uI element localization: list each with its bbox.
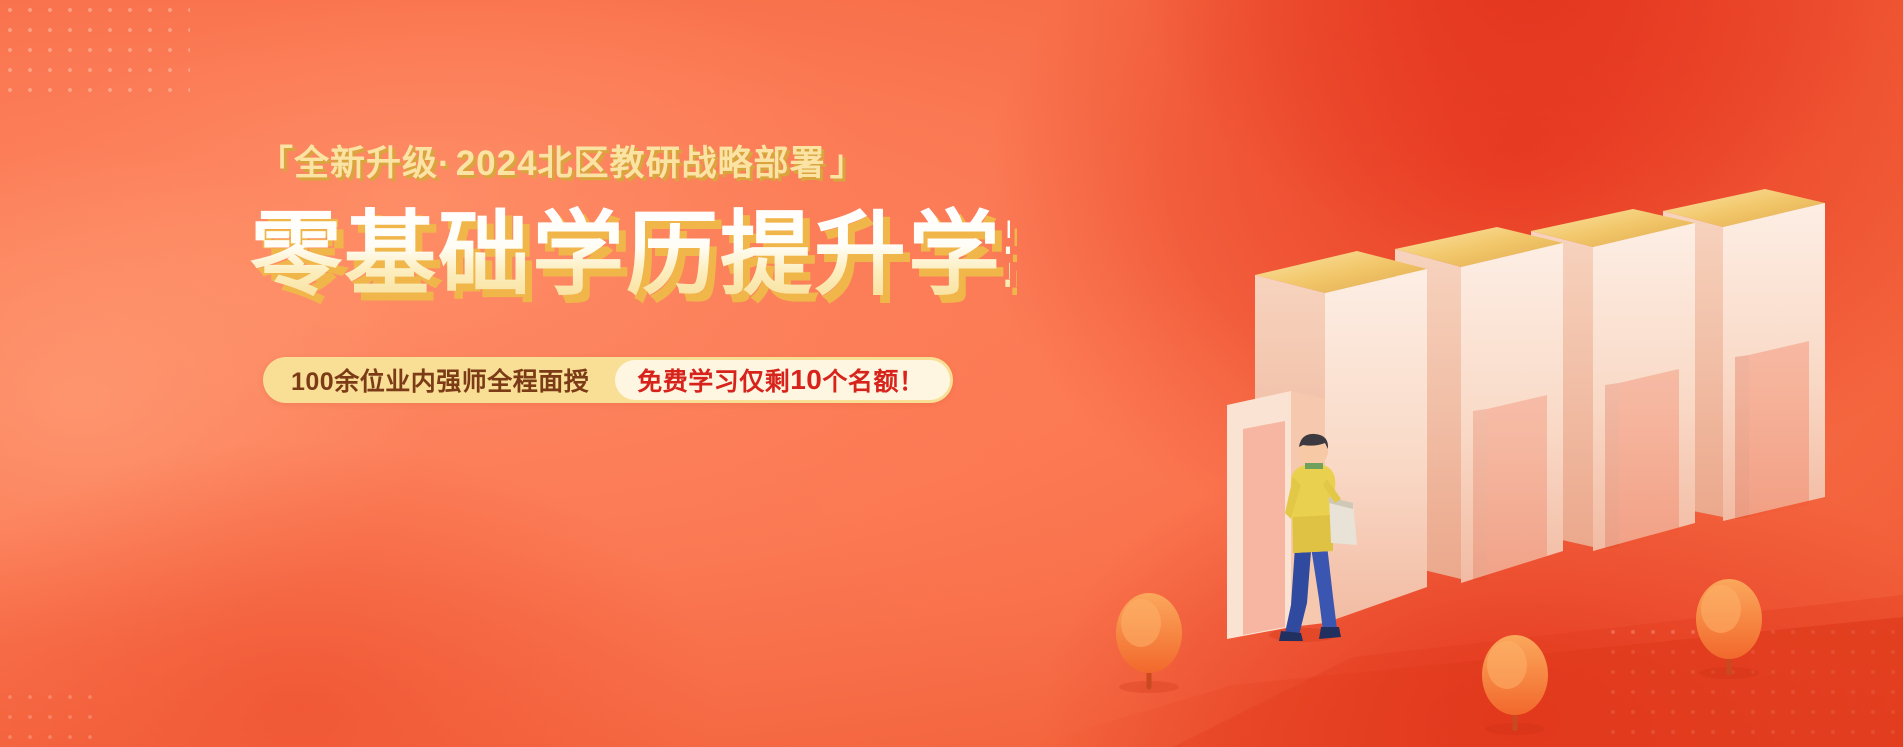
pill-teachers-label: 100余位业内强师全程面授 bbox=[263, 357, 615, 403]
pill-seats-prefix: 免费学习仅剩 bbox=[637, 362, 790, 398]
bracket-close: 」 bbox=[830, 144, 866, 183]
headline-block: 「全新升级·2024北区教研战略部署」 零基础学历提升学霸班 bbox=[250, 146, 1010, 311]
dot-grid-top-left bbox=[0, 0, 190, 105]
banner-title: 零基础学历提升学霸班 bbox=[250, 203, 1010, 311]
info-pill[interactable]: 100余位业内强师全程面授 免费学习仅剩10个名额！ bbox=[263, 357, 953, 403]
subtitle-text-a: 全新升级 bbox=[294, 144, 438, 183]
tree-left bbox=[1116, 593, 1182, 693]
pill-seats-suffix: 个名额！ bbox=[822, 362, 924, 398]
banner-subtitle: 「全新升级·2024北区教研战略部署」 bbox=[258, 146, 1010, 181]
dot-grid-bottom-left bbox=[0, 687, 95, 747]
pill-seats-badge: 免费学习仅剩10个名额！ bbox=[615, 360, 950, 400]
promo-banner: 「全新升级·2024北区教研战略部署」 零基础学历提升学霸班 100余位业内强师… bbox=[0, 0, 1903, 747]
pill-seats-count: 10 bbox=[790, 364, 822, 396]
bracket-open: 「 bbox=[258, 144, 294, 183]
subtitle-text-b: 2024北区教研战略部署 bbox=[456, 144, 826, 183]
subtitle-separator: · bbox=[438, 144, 456, 183]
